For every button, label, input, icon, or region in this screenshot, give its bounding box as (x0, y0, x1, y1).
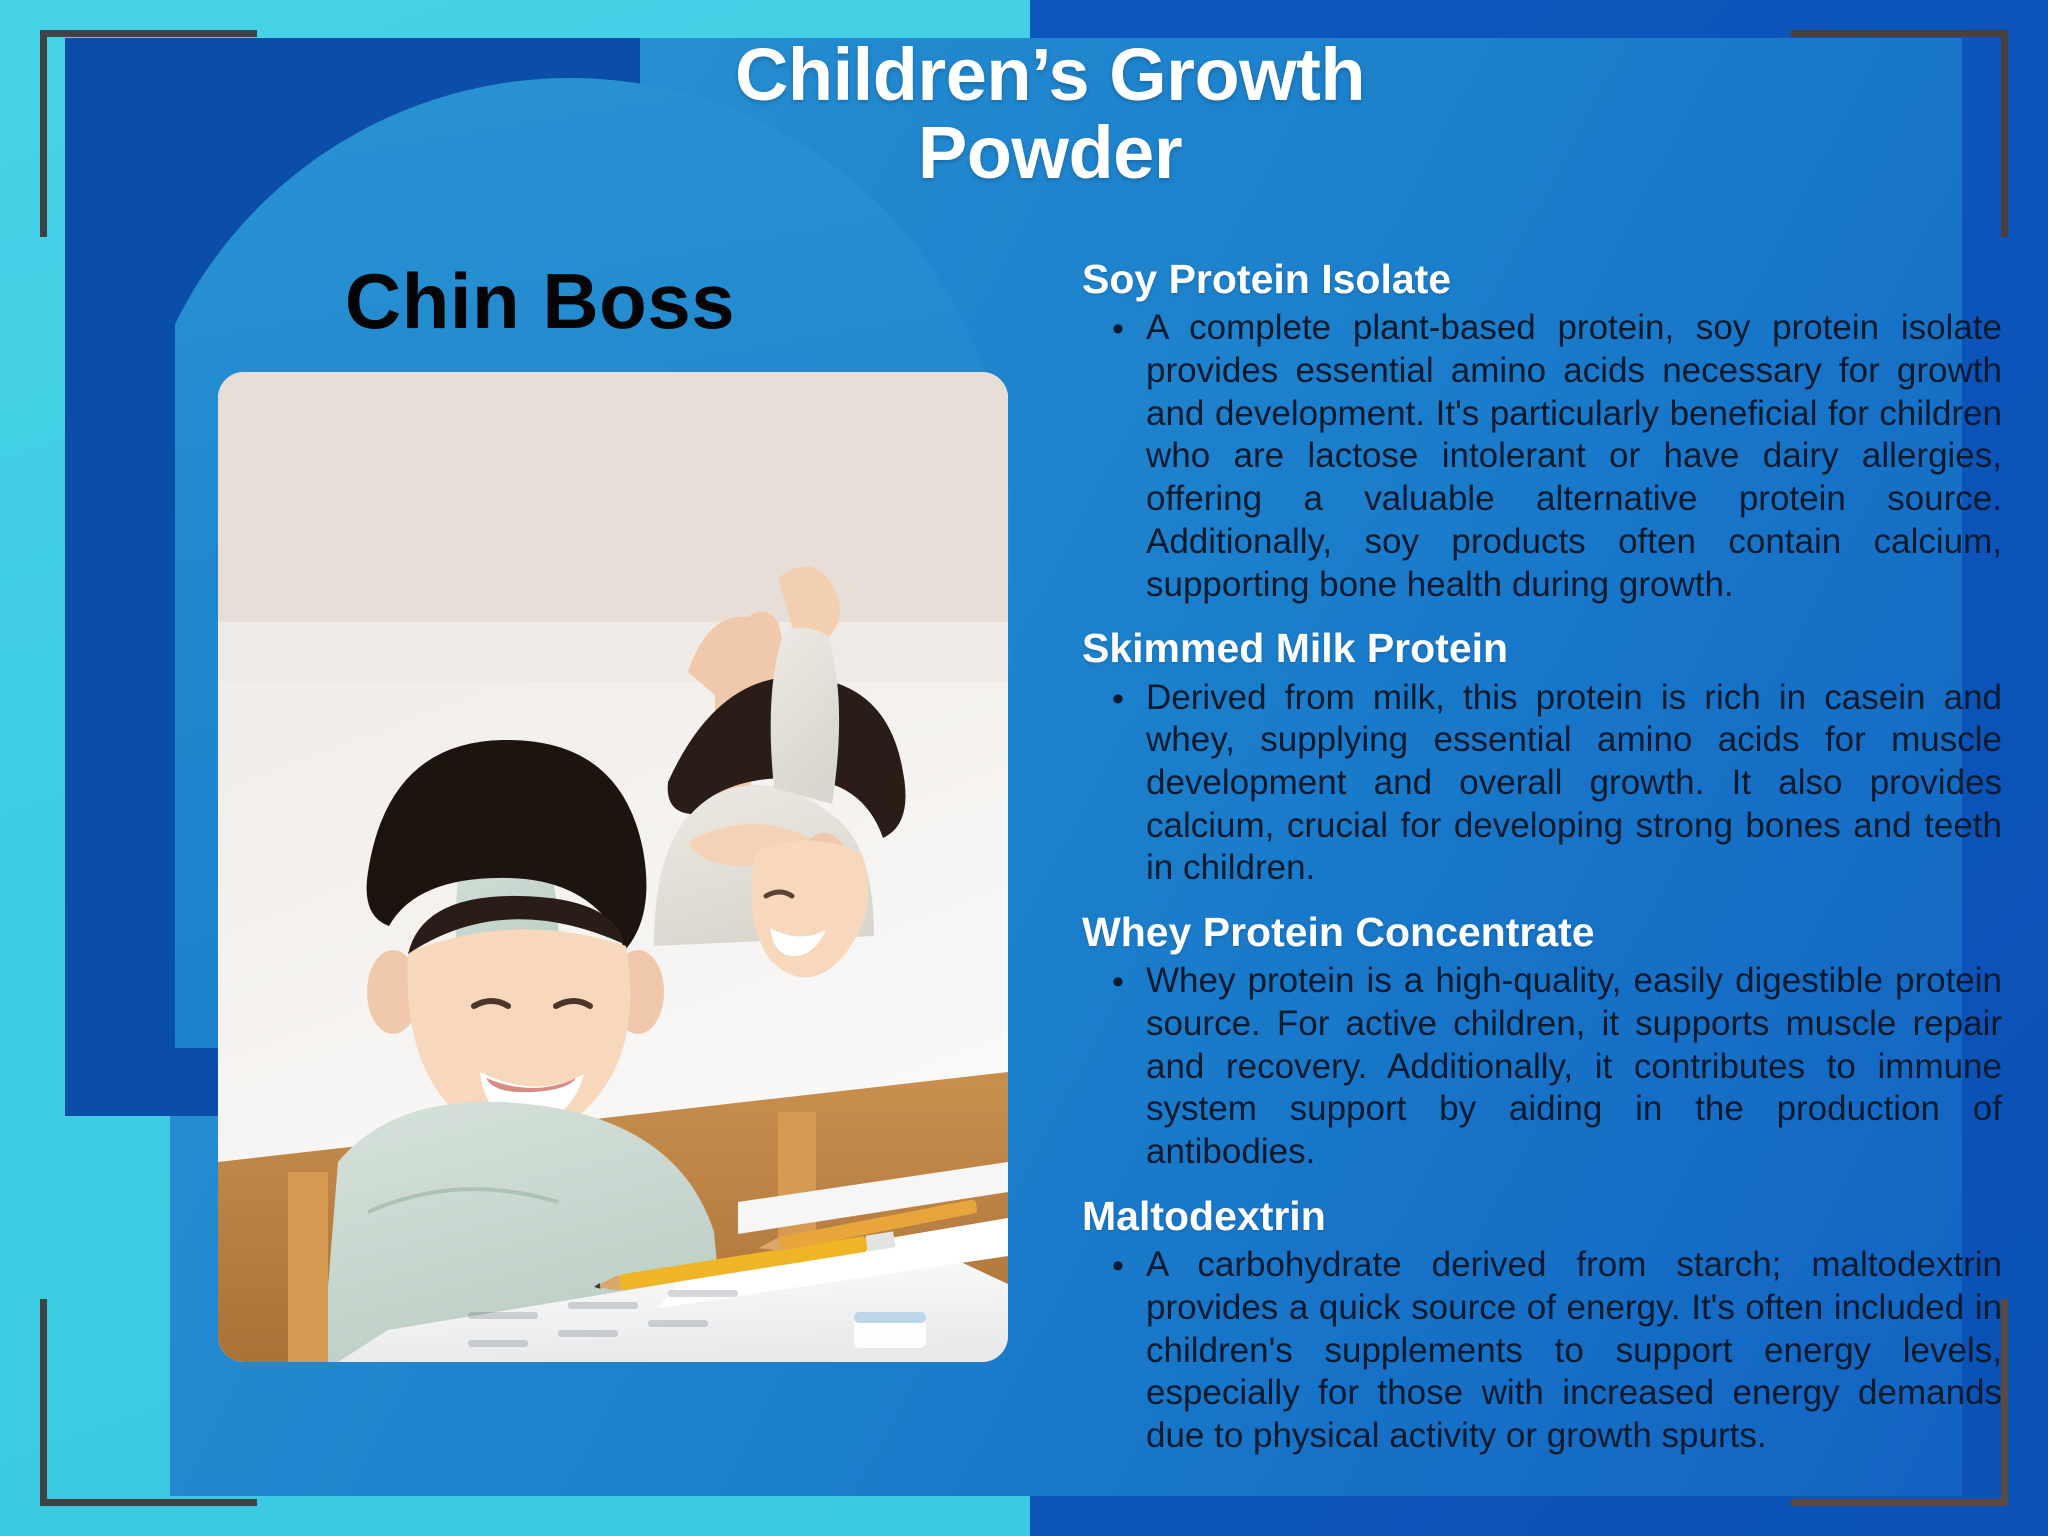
photo-illustration-icon (218, 372, 1008, 1362)
bullet-point-icon: • (1112, 677, 1146, 720)
ingredient-description: A carbohydrate derived from starch; malt… (1146, 1244, 2002, 1457)
ingredient-section: Skimmed Milk Protein • Derived from milk… (1082, 624, 2002, 890)
bullet-point-icon: • (1112, 1244, 1146, 1287)
ingredient-section: Maltodextrin • A carbohydrate derived fr… (1082, 1192, 2002, 1458)
poster-canvas: Children’s Growth Powder Chin Boss (0, 0, 2048, 1536)
ingredient-section: Soy Protein Isolate • A complete plant-b… (1082, 255, 2002, 606)
ingredient-heading: Skimmed Milk Protein (1082, 624, 2002, 672)
ingredient-description: A complete plant-based protein, soy prot… (1146, 307, 2002, 606)
ingredient-bullet-row: • A carbohydrate derived from starch; ma… (1082, 1244, 2002, 1457)
ingredient-section: Whey Protein Concentrate • Whey protein … (1082, 908, 2002, 1174)
ingredient-description: Whey protein is a high-quality, easily d… (1146, 960, 2002, 1173)
bullet-point-icon: • (1112, 960, 1146, 1003)
ingredient-heading: Maltodextrin (1082, 1192, 2002, 1240)
bullet-point-icon: • (1112, 307, 1146, 350)
ingredient-bullet-row: • Whey protein is a high-quality, easily… (1082, 960, 2002, 1173)
children-photo (218, 372, 1008, 1362)
decor-left-bar (65, 38, 175, 1116)
ingredient-bullet-row: • A complete plant-based protein, soy pr… (1082, 307, 2002, 606)
ingredient-heading: Soy Protein Isolate (1082, 255, 2002, 303)
ingredient-heading: Whey Protein Concentrate (1082, 908, 2002, 956)
page-title: Children’s Growth Powder (660, 36, 1440, 193)
ingredients-list: Soy Protein Isolate • A complete plant-b… (1082, 255, 2002, 1476)
ingredient-description: Derived from milk, this protein is rich … (1146, 677, 2002, 890)
ingredient-bullet-row: • Derived from milk, this protein is ric… (1082, 677, 2002, 890)
brand-name: Chin Boss (190, 256, 890, 347)
